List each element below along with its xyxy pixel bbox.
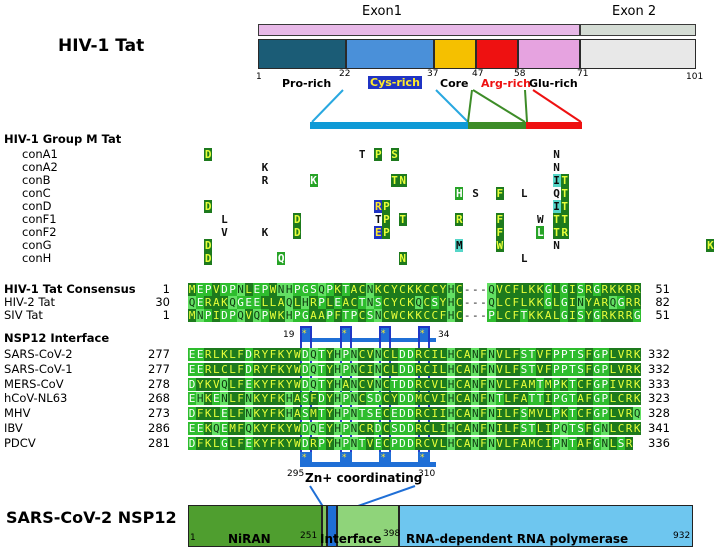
residue: K	[536, 309, 544, 322]
residue: G	[560, 283, 568, 296]
residue: C	[455, 363, 463, 376]
residue: T	[318, 407, 326, 420]
variant-row: conCHSLQTF	[0, 187, 714, 200]
residue: D	[398, 422, 406, 435]
residue: Y	[326, 437, 334, 450]
residue: L	[609, 348, 617, 361]
variant-row: conHDQNL	[0, 252, 714, 265]
residue: L	[439, 348, 447, 361]
residue: Y	[439, 296, 447, 309]
residue: N	[366, 283, 374, 296]
nsp12-title: SARS-CoV-2 NSP12	[6, 508, 177, 527]
residue: -	[479, 309, 487, 322]
alignment-row: HIV-1 Tat Consensus1MEPVDPNLEPWNHPGSQPKT…	[0, 283, 714, 296]
residue: P	[318, 437, 326, 450]
residue: P	[560, 348, 568, 361]
residue: N	[471, 363, 479, 376]
residue: H	[334, 378, 342, 391]
residue: N	[220, 392, 228, 405]
residue: F	[585, 363, 593, 376]
residue: G	[593, 348, 601, 361]
residue: N	[471, 392, 479, 405]
residue: R	[625, 392, 633, 405]
residue: L	[544, 407, 552, 420]
residue: F	[309, 392, 317, 405]
residue: T	[390, 378, 398, 391]
residue: K	[277, 378, 285, 391]
exon1-span-bar	[258, 24, 580, 36]
nsp12-label-niran: NiRAN	[228, 534, 271, 545]
residue: N	[350, 348, 358, 361]
variant-residue: W	[536, 213, 544, 226]
residue: C	[577, 407, 585, 420]
residue: K	[204, 378, 212, 391]
residue: K	[204, 407, 212, 420]
exon2-label: Exon 2	[612, 4, 656, 19]
variant-residue: L	[220, 213, 228, 226]
residue: K	[528, 296, 536, 309]
residue: L	[228, 407, 236, 420]
residue: E	[196, 283, 204, 296]
residue: L	[269, 296, 277, 309]
residue: G	[593, 363, 601, 376]
residue: C	[358, 283, 366, 296]
residue: Y	[390, 296, 398, 309]
residue: Q	[309, 363, 317, 376]
residue: L	[439, 363, 447, 376]
residue: L	[496, 296, 504, 309]
residue: C	[382, 363, 390, 376]
residue: -	[471, 283, 479, 296]
residue: R	[625, 407, 633, 420]
residue: K	[415, 283, 423, 296]
residue: L	[228, 392, 236, 405]
residue: -	[479, 283, 487, 296]
residue: G	[301, 309, 309, 322]
alignment-sequence: MEPVDPNLEPWNHPGSQPKTACNKCYCKKCCYHC---QVC…	[188, 283, 641, 296]
residue: L	[212, 348, 220, 361]
residue: C	[617, 422, 625, 435]
residue: F	[544, 348, 552, 361]
residue: F	[269, 348, 277, 361]
residue: N	[277, 283, 285, 296]
residue: P	[228, 309, 236, 322]
variant-row: conBRKTNIT	[0, 174, 714, 187]
residue: G	[593, 378, 601, 391]
residue: K	[536, 296, 544, 309]
alignment-row: SARS-CoV-1277EERLCLFDRYFKYWDQTYHPNCINCLD…	[0, 363, 714, 378]
residue: D	[398, 378, 406, 391]
variant-residue: K	[261, 226, 269, 239]
residue: C	[455, 378, 463, 391]
residue: C	[504, 296, 512, 309]
residue: H	[447, 392, 455, 405]
tat-domain-glu-rich	[518, 39, 580, 69]
residue: Y	[326, 407, 334, 420]
residue: R	[366, 422, 374, 435]
variant-row: conA1DTPSN	[0, 148, 714, 161]
residue: N	[374, 309, 382, 322]
residue: R	[625, 348, 633, 361]
residue: P	[326, 309, 334, 322]
residue: I	[568, 296, 576, 309]
residue: K	[253, 422, 261, 435]
residue: H	[447, 378, 455, 391]
residue: D	[374, 392, 382, 405]
alignment-end-number: 332	[640, 348, 670, 361]
alignment-sequence: DYKVQLFEKYFKYWDQTYHANCVNCTDDRCVLHCANFNVL…	[188, 378, 641, 391]
residue: C	[536, 437, 544, 450]
residue: Q	[245, 422, 253, 435]
variant-row: conDDRPIT	[0, 200, 714, 213]
residue: L	[212, 363, 220, 376]
variant-residue: L	[520, 187, 528, 200]
residue: Q	[212, 422, 220, 435]
residue: G	[301, 283, 309, 296]
groupm-subbar-core	[468, 122, 526, 129]
nsp12-tick-932: 932	[673, 532, 690, 541]
residue: S	[520, 348, 528, 361]
residue: N	[487, 437, 495, 450]
residue: N	[487, 348, 495, 361]
residue: F	[479, 363, 487, 376]
residue: G	[593, 422, 601, 435]
residue: K	[407, 309, 415, 322]
residue: V	[431, 392, 439, 405]
residue: E	[374, 407, 382, 420]
residue: L	[552, 296, 560, 309]
residue: C	[423, 422, 431, 435]
residue: N	[471, 348, 479, 361]
residue: L	[245, 283, 253, 296]
tat-domain-diagram: Exon1 Exon 2 1 22 37 47 58 71 101 Pro-ri…	[0, 0, 714, 125]
alignment-start-number: 277	[140, 363, 170, 376]
residue: V	[617, 363, 625, 376]
residue: C	[220, 363, 228, 376]
residue: C	[423, 378, 431, 391]
residue: H	[447, 296, 455, 309]
residue: H	[447, 407, 455, 420]
residue: Y	[390, 283, 398, 296]
groupm-subbar-cys	[310, 122, 468, 129]
residue: F	[585, 348, 593, 361]
residue: P	[342, 407, 350, 420]
residue: C	[423, 309, 431, 322]
residue: L	[552, 309, 560, 322]
residue: I	[544, 392, 552, 405]
residue: L	[431, 422, 439, 435]
variant-residue: N	[553, 161, 561, 174]
residue: R	[601, 283, 609, 296]
residue: N	[487, 422, 495, 435]
variant-residue: N	[399, 252, 407, 265]
residue: E	[188, 392, 196, 405]
residue: R	[415, 422, 423, 435]
residue: C	[423, 296, 431, 309]
residue: F	[196, 407, 204, 420]
residue: W	[293, 363, 301, 376]
residue: Q	[220, 378, 228, 391]
residue: L	[609, 363, 617, 376]
residue: P	[326, 283, 334, 296]
residue: G	[593, 407, 601, 420]
residue: T	[358, 296, 366, 309]
alignment-start-number: 278	[140, 378, 170, 391]
variant-residue: F	[496, 213, 504, 226]
residue: T	[318, 363, 326, 376]
residue: N	[350, 363, 358, 376]
groupm-subbar-arg	[526, 122, 582, 129]
residue: Y	[285, 437, 293, 450]
residue: P	[390, 437, 398, 450]
variant-residue: Q	[553, 187, 561, 200]
residue: R	[253, 348, 261, 361]
interface-tick-19: 19	[283, 331, 294, 340]
residue: H	[285, 392, 293, 405]
tat-domain-pro-rich	[258, 39, 346, 69]
variant-residue: W	[496, 239, 504, 252]
alignment-start-number: 281	[140, 437, 170, 450]
residue: E	[390, 407, 398, 420]
residue: F	[237, 378, 245, 391]
residue: D	[407, 422, 415, 435]
alignment-sequence: DFKLGLFEKYFKYWDRPYHPNTVECPDDRCVLHCANFNVL…	[188, 437, 633, 450]
variant-residue: K	[261, 161, 269, 174]
residue: F	[196, 437, 204, 450]
residue: P	[601, 407, 609, 420]
residue: L	[520, 296, 528, 309]
alignment-row: SIV Tat1MNPIDPQVQPWKHPGAAPFTPCSNCWCKKCCF…	[0, 309, 714, 322]
residue: G	[560, 392, 568, 405]
residue: N	[350, 422, 358, 435]
residue: C	[423, 363, 431, 376]
residue: K	[536, 283, 544, 296]
residue: C	[455, 296, 463, 309]
residue: V	[212, 283, 220, 296]
residue: L	[228, 348, 236, 361]
residue: F	[269, 392, 277, 405]
residue: F	[237, 392, 245, 405]
variant-residue: T	[553, 226, 561, 239]
residue: F	[585, 407, 593, 420]
residue: G	[593, 392, 601, 405]
residue: Y	[261, 363, 269, 376]
residue: S	[366, 392, 374, 405]
residue: W	[293, 378, 301, 391]
residue: K	[204, 392, 212, 405]
residue: C	[431, 283, 439, 296]
alignment-row: IBV286EEKQEMFQKYFKYWDQEYHPNCRDCSDDRCLIHC…	[0, 422, 714, 437]
variant-residue: R	[561, 226, 569, 239]
alignment-start-number: 277	[140, 348, 170, 361]
variant-residue: R	[261, 174, 269, 187]
residue: Q	[237, 309, 245, 322]
residue: N	[471, 378, 479, 391]
residue: G	[560, 296, 568, 309]
residue: G	[617, 296, 625, 309]
residue: Y	[585, 309, 593, 322]
residue: I	[496, 407, 504, 420]
residue: K	[528, 283, 536, 296]
tat-domain-cys-rich	[346, 39, 434, 69]
residue: Y	[326, 363, 334, 376]
residue: F	[512, 296, 520, 309]
residue: M	[528, 437, 536, 450]
residue: Q	[228, 296, 236, 309]
residue: V	[431, 437, 439, 450]
alignment-end-number: 323	[640, 392, 670, 405]
residue: S	[520, 407, 528, 420]
residue: P	[552, 407, 560, 420]
variant-residue: T	[561, 174, 569, 187]
residue: H	[334, 392, 342, 405]
alignment-row: hCoV-NL63268EHKENLFNKYFKHASFDYHPNCSDCYDD…	[0, 392, 714, 407]
residue: C	[423, 407, 431, 420]
residue: H	[301, 296, 309, 309]
residue: N	[350, 378, 358, 391]
residue: R	[625, 378, 633, 391]
residue: E	[245, 378, 253, 391]
residue: W	[269, 309, 277, 322]
residue: F	[237, 348, 245, 361]
residue: G	[237, 296, 245, 309]
residue: T	[528, 363, 536, 376]
residue: D	[407, 363, 415, 376]
residue: C	[350, 296, 358, 309]
residue: P	[552, 392, 560, 405]
residue: F	[585, 422, 593, 435]
residue: K	[277, 407, 285, 420]
residue: R	[309, 296, 317, 309]
residue: V	[496, 378, 504, 391]
residue: M	[528, 407, 536, 420]
tat-label-cys-rich: Cys-rich	[368, 76, 422, 89]
residue: E	[253, 283, 261, 296]
residue: E	[318, 422, 326, 435]
residue: T	[568, 363, 576, 376]
residue: C	[358, 392, 366, 405]
residue: R	[415, 348, 423, 361]
residue: N	[471, 437, 479, 450]
residue: F	[237, 407, 245, 420]
residue: C	[455, 348, 463, 361]
residue: C	[382, 309, 390, 322]
residue: F	[585, 392, 593, 405]
residue: C	[382, 407, 390, 420]
variant-residue: R	[455, 213, 463, 226]
residue: C	[455, 309, 463, 322]
variant-residue: I	[553, 200, 561, 213]
residue: E	[196, 422, 204, 435]
residue: S	[309, 283, 317, 296]
residue: I	[568, 309, 576, 322]
alignment-row-label: PDCV	[4, 437, 36, 450]
residue: D	[301, 348, 309, 361]
residue: S	[301, 407, 309, 420]
residue: K	[204, 422, 212, 435]
residue: D	[301, 437, 309, 450]
residue: Y	[261, 392, 269, 405]
residue: L	[504, 348, 512, 361]
residue: S	[301, 392, 309, 405]
residue: V	[617, 348, 625, 361]
residue: F	[512, 309, 520, 322]
residue: V	[431, 378, 439, 391]
residue: E	[188, 348, 196, 361]
variant-residue: H	[455, 187, 463, 200]
residue: T	[528, 422, 536, 435]
residue: M	[309, 407, 317, 420]
residue: K	[253, 392, 261, 405]
residue: Y	[439, 283, 447, 296]
alignment-start-number: 273	[140, 407, 170, 420]
residue: Y	[196, 378, 204, 391]
tat-tick-1: 1	[256, 73, 262, 82]
residue: C	[382, 422, 390, 435]
alignment-start-number: 268	[140, 392, 170, 405]
residue: F	[269, 407, 277, 420]
residue: K	[334, 283, 342, 296]
alignment-end-number: 333	[640, 378, 670, 391]
residue: V	[366, 348, 374, 361]
variant-residue: S	[391, 148, 399, 161]
alignment-end-number: 336	[640, 437, 670, 450]
residue: P	[342, 422, 350, 435]
residue: F	[237, 363, 245, 376]
residue: S	[520, 363, 528, 376]
alignment-row-label: MERS-CoV	[4, 378, 64, 391]
residue: I	[431, 407, 439, 420]
residue: C	[455, 422, 463, 435]
residue: N	[471, 407, 479, 420]
variant-residue: M	[455, 239, 463, 252]
residue: H	[447, 348, 455, 361]
residue: F	[512, 363, 520, 376]
residue: A	[293, 392, 301, 405]
residue: C	[455, 283, 463, 296]
residue: R	[253, 363, 261, 376]
residue: L	[293, 296, 301, 309]
tat-domain-core	[434, 39, 476, 69]
residue: K	[374, 283, 382, 296]
residue: R	[617, 309, 625, 322]
residue: P	[293, 283, 301, 296]
residue: R	[625, 283, 633, 296]
tat-tick-22: 22	[339, 70, 350, 79]
residue: K	[560, 407, 568, 420]
residue: T	[536, 392, 544, 405]
residue: L	[261, 296, 269, 309]
residue: A	[520, 378, 528, 391]
residue: K	[253, 407, 261, 420]
residue: P	[318, 296, 326, 309]
residue: N	[560, 437, 568, 450]
variant-residue: T	[553, 213, 561, 226]
residue: D	[301, 422, 309, 435]
residue: T	[568, 407, 576, 420]
variant-residue: D	[204, 148, 212, 161]
residue: P	[204, 283, 212, 296]
residue: C	[382, 348, 390, 361]
residue: H	[285, 283, 293, 296]
residue: I	[212, 309, 220, 322]
residue: V	[617, 378, 625, 391]
residue: S	[577, 363, 585, 376]
variant-residue: N	[553, 148, 561, 161]
residue: K	[204, 437, 212, 450]
alignment-row-label: IBV	[4, 422, 23, 435]
residue: G	[544, 283, 552, 296]
